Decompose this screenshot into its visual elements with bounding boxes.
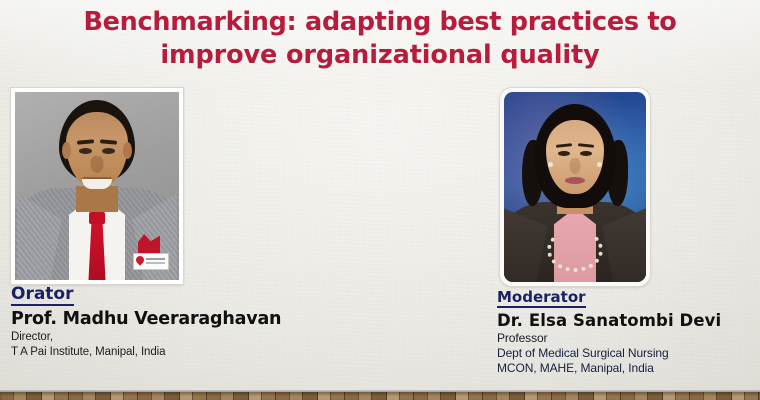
moderator-photo: [500, 88, 650, 286]
orator-photo-canvas: [15, 92, 179, 280]
moderator-name: Dr. Elsa Sanatombi Devi: [497, 311, 755, 331]
title-line-2: improve organizational quality: [28, 39, 732, 72]
orator-detail-line-1: Director,: [11, 330, 341, 345]
orator-name: Prof. Madhu Veeraraghavan: [11, 309, 341, 330]
orator-photo: [11, 88, 183, 284]
orator-ear-left-shape: [62, 142, 71, 159]
moderator-earring-left-shape: [548, 162, 553, 167]
moderator-lips-shape: [565, 177, 585, 184]
moderator-pearl-necklace-shape: [547, 228, 603, 272]
presentation-slide: Benchmarking: adapting best practices to…: [0, 0, 760, 400]
orator-role-label: Orator: [11, 284, 74, 306]
moderator-detail-line-1: Professor: [497, 331, 755, 346]
moderator-photo-canvas: [504, 92, 646, 282]
orator-detail-line-2: T A Pai Institute, Manipal, India: [11, 345, 341, 360]
moderator-eye-right-shape: [580, 151, 592, 156]
moderator-eye-left-shape: [558, 151, 570, 156]
orator-smile-shape: [82, 177, 112, 189]
title-line-1: Benchmarking: adapting best practices to: [28, 6, 732, 39]
moderator-caption: Moderator Dr. Elsa Sanatombi Devi Profes…: [497, 288, 755, 376]
orator-id-badge-shape: [133, 253, 169, 270]
moderator-detail-line-3: MCON, MAHE, Manipal, India: [497, 361, 755, 376]
moderator-earring-right-shape: [597, 162, 602, 167]
moderator-nose-shape: [570, 158, 581, 174]
moderator-role-label: Moderator: [497, 288, 586, 308]
orator-caption: Orator Prof. Madhu Veeraraghavan Directo…: [11, 284, 341, 359]
orator-tie-knot-shape: [89, 212, 105, 224]
moderator-detail-line-2: Dept of Medical Surgical Nursing: [497, 346, 755, 361]
slide-title: Benchmarking: adapting best practices to…: [0, 6, 760, 72]
floor-strip: [0, 392, 760, 400]
orator-neck-shape: [76, 186, 118, 212]
orator-nose-shape: [91, 156, 104, 173]
orator-eye-right-shape: [102, 148, 115, 154]
orator-ear-right-shape: [123, 142, 132, 159]
orator-eye-left-shape: [79, 148, 92, 154]
